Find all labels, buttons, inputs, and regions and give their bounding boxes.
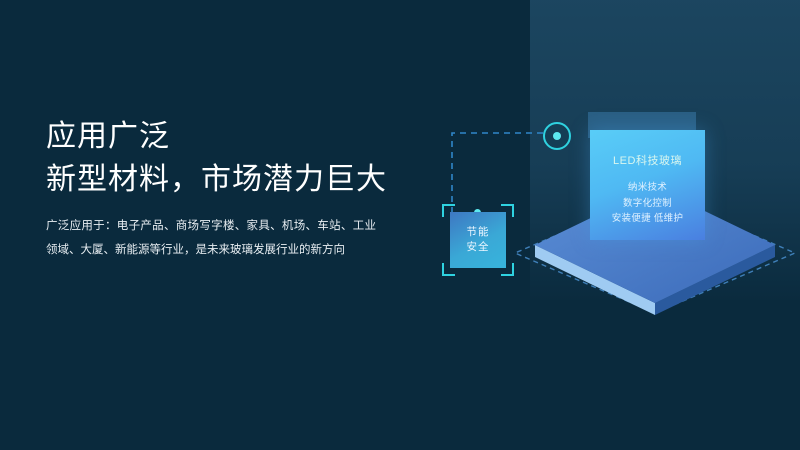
badge-box: 节能 安全: [450, 212, 506, 268]
card-feature-item: 安装便捷 低维护: [590, 211, 705, 227]
slide-canvas: 应用广泛 新型材料，市场潜力巨大 广泛应用于：电子产品、商场写字楼、家具、机场、…: [0, 0, 800, 450]
card-feature-item: 数字化控制: [590, 196, 705, 212]
card-title: LED科技玻璃: [590, 152, 705, 168]
card-feature-item: 纳米技术: [590, 180, 705, 196]
illustration: 节能 安全 LED科技玻: [0, 0, 800, 450]
glass-card[interactable]: LED科技玻璃 纳米技术 数字化控制 安装便捷 低维护: [590, 130, 705, 240]
feature-badge[interactable]: 节能 安全: [442, 204, 514, 276]
node-dot-icon: [553, 132, 561, 140]
badge-label-line-1: 节能: [467, 225, 490, 240]
node-ring-icon: [543, 122, 571, 150]
card-feature-list: 纳米技术 数字化控制 安装便捷 低维护: [590, 180, 705, 227]
badge-label-line-2: 安全: [467, 240, 490, 255]
